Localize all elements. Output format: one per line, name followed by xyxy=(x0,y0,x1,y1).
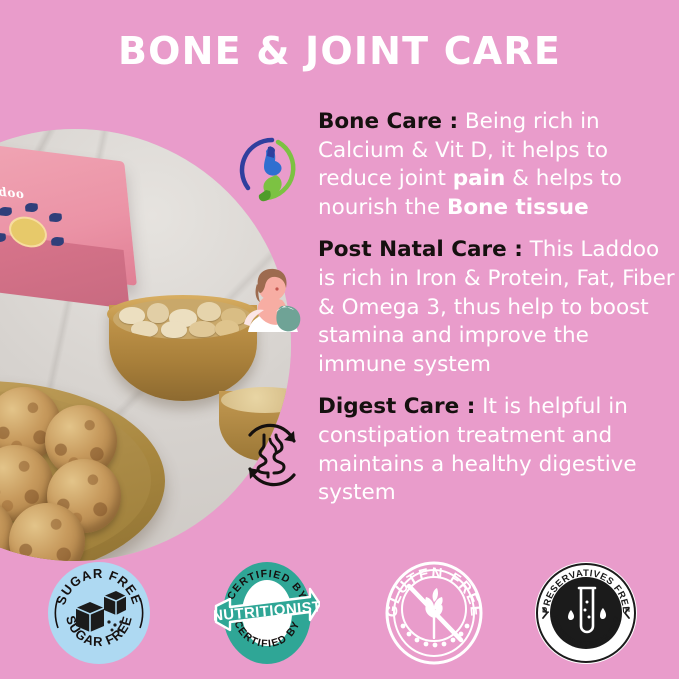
sugar-free-badge: SUGAR FREE SUGAR FREE xyxy=(46,560,152,666)
digestive-intestine-icon xyxy=(236,419,308,491)
benefit-emphasis: pain xyxy=(453,166,506,191)
benefit-emphasis: Bone tissue xyxy=(447,195,589,220)
crossed-wheat-icon xyxy=(409,586,461,640)
page-title: BONE & JOINT CARE xyxy=(0,31,679,73)
certification-badges: SUGAR FREE SUGAR FREE xyxy=(0,560,679,670)
benefit-list: Bone Care : Being rich in Calcium & Vit … xyxy=(228,108,679,522)
benefit-post-natal-care: Post Natal Care : This Laddoo is rich in… xyxy=(228,236,679,379)
benefit-bone-care: Bone Care : Being rich in Calcium & Vit … xyxy=(228,108,679,222)
benefit-heading: Post Natal Care : xyxy=(318,237,523,262)
benefit-text: Bone Care : Being rich in Calcium & Vit … xyxy=(318,108,679,222)
benefit-text: Post Natal Care : This Laddoo is rich in… xyxy=(318,236,679,379)
benefit-heading: Bone Care : xyxy=(318,109,458,134)
certified-nutritionist-badge: CERTIFIED BY CERTIFIED BY NUTRITIONIST xyxy=(214,560,320,666)
benefit-heading: Digest Care : xyxy=(318,394,475,419)
poster-root: BONE & JOINT CARE addoo xyxy=(0,0,679,679)
knee-joint-icon xyxy=(236,134,308,206)
preservatives-free-badge: PRESERVATIVES FREE PRESERVATIVES FREE xyxy=(533,560,639,666)
gluten-free-badge: GLUTEN FREE xyxy=(381,560,487,666)
benefit-text: Digest Care : It is helpful in constipat… xyxy=(318,393,679,507)
breastfeeding-mother-icon xyxy=(236,262,308,334)
benefit-digest-care: Digest Care : It is helpful in constipat… xyxy=(228,393,679,507)
